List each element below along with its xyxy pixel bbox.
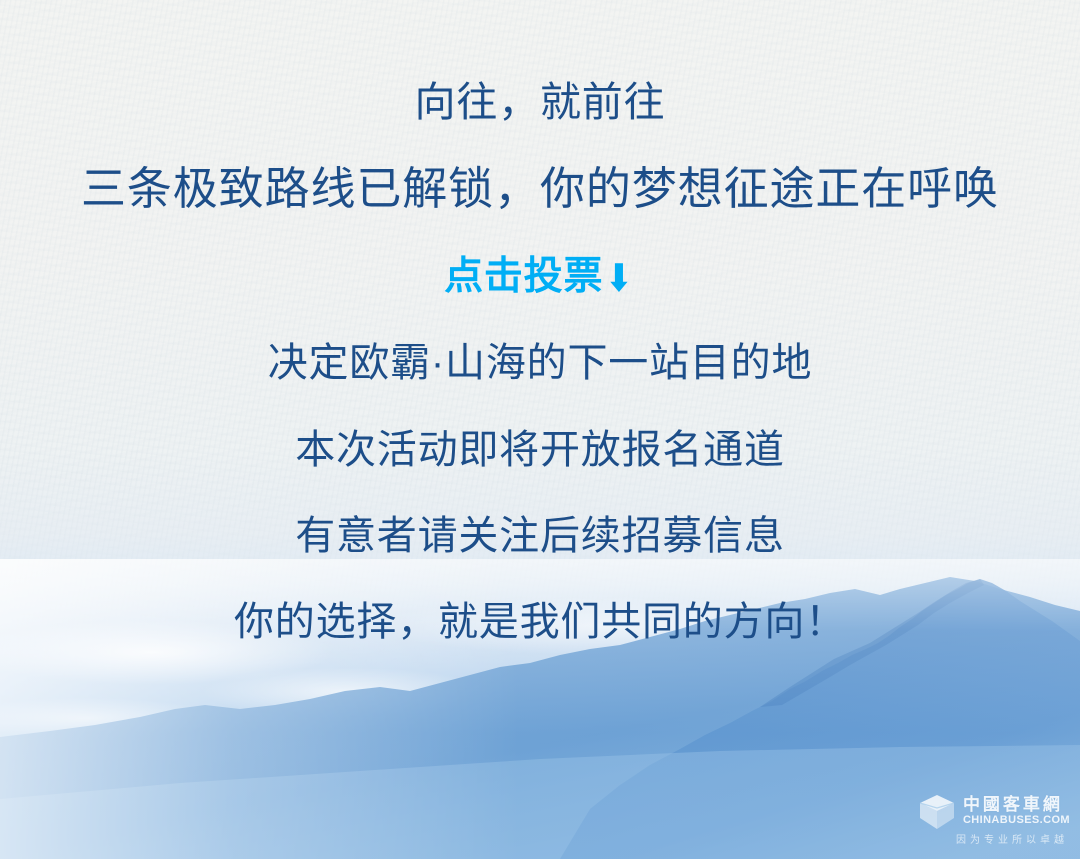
watermark-text-group: 中國客車網 CHINABUSES.COM bbox=[963, 796, 1070, 828]
headline-line-4: 决定欧霸·山海的下一站目的地 bbox=[0, 343, 1080, 383]
arrow-down-icon: ⬇ bbox=[606, 260, 634, 298]
poster-root: 向往，就前往 三条极致路线已解锁，你的梦想征途正在呼唤 点击投票⬇ 决定欧霸·山… bbox=[0, 0, 1080, 859]
vote-cta[interactable]: 点击投票⬇ bbox=[0, 257, 1080, 296]
headline-line-1: 向往，就前往 bbox=[0, 82, 1080, 123]
headline-line-2: 三条极致路线已解锁，你的梦想征途正在呼唤 bbox=[0, 166, 1080, 211]
headline-line-5: 本次活动即将开放报名通道 bbox=[0, 430, 1080, 470]
watermark-en-name: CHINABUSES.COM bbox=[963, 814, 1070, 828]
site-watermark: 中國客車網 CHINABUSES.COM 因为专业所以卓越 bbox=[902, 792, 1070, 847]
vote-cta-label: 点击投票 bbox=[444, 255, 603, 298]
watermark-logo-row: 中國客車網 CHINABUSES.COM bbox=[917, 792, 1070, 832]
headline-line-6: 有意者请关注后续招募信息 bbox=[0, 516, 1080, 556]
headline-line-7: 你的选择，就是我们共同的方向！ bbox=[0, 602, 1080, 642]
watermark-tagline: 因为专业所以卓越 bbox=[902, 835, 1070, 847]
watermark-cn-name: 中國客車網 bbox=[963, 796, 1063, 815]
cube-logo-icon bbox=[917, 792, 957, 832]
